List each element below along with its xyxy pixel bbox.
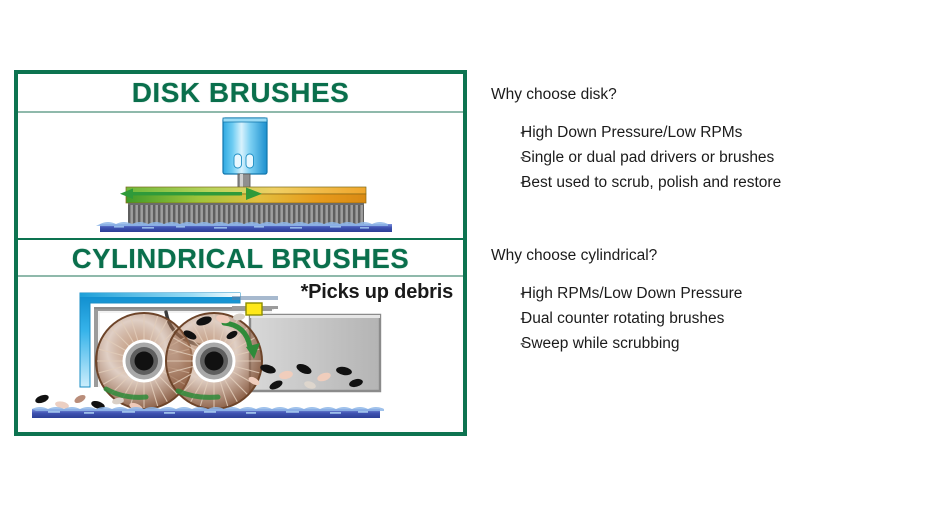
list-item-label: Sweep while scrubbing (521, 331, 921, 356)
list-item: - High RPMs/Low Down Pressure (491, 281, 921, 306)
disk-section-heading: Why choose disk? (491, 84, 921, 106)
disk-brushes-title: DISK BRUSHES (132, 77, 350, 108)
dash-marker: - (491, 145, 521, 170)
disk-brush-diagram (18, 113, 463, 238)
counter-rotating-brush-right (166, 313, 262, 409)
yellow-latch (246, 303, 262, 315)
list-item-label: High Down Pressure/Low RPMs (521, 120, 921, 145)
dash-marker: - (491, 331, 521, 356)
cylindrical-brushes-title-band: CYLINDRICAL BRUSHES (18, 238, 463, 277)
list-item: - Best used to scrub, polish and restore (491, 170, 921, 195)
list-item-label: High RPMs/Low Down Pressure (521, 281, 921, 306)
list-item: - High Down Pressure/Low RPMs (491, 120, 921, 145)
dash-marker: - (491, 281, 521, 306)
list-item-label: Dual counter rotating brushes (521, 306, 921, 331)
dash-marker: - (491, 170, 521, 195)
cylindrical-section-heading: Why choose cylindrical? (491, 245, 921, 267)
cylindrical-benefits-list: - High RPMs/Low Down Pressure - Dual cou… (491, 281, 921, 356)
list-item: - Dual counter rotating brushes (491, 306, 921, 331)
disk-brushes-title-band: DISK BRUSHES (18, 74, 463, 113)
blue-cylindrical-motor (223, 118, 267, 188)
brush-comparison-infographic: DISK BRUSHES (14, 70, 467, 436)
dash-marker: - (491, 306, 521, 331)
cylindrical-brush-diagram: *Picks up debris (18, 277, 463, 432)
disk-benefits-section: Why choose disk? - High Down Pressure/Lo… (491, 84, 921, 195)
dash-marker: - (491, 120, 521, 145)
list-item-label: Single or dual pad drivers or brushes (521, 145, 921, 170)
list-item: - Single or dual pad drivers or brushes (491, 145, 921, 170)
benefits-text-column: Why choose disk? - High Down Pressure/Lo… (491, 84, 921, 356)
disk-benefits-list: - High Down Pressure/Low RPMs - Single o… (491, 120, 921, 195)
cylindrical-benefits-section: Why choose cylindrical? - High RPMs/Low … (491, 245, 921, 356)
grey-vertical-bristles (128, 203, 364, 224)
list-item-label: Best used to scrub, polish and restore (521, 170, 921, 195)
cylindrical-brushes-title: CYLINDRICAL BRUSHES (72, 243, 410, 274)
picks-up-debris-note: *Picks up debris (301, 281, 453, 304)
list-item: - Sweep while scrubbing (491, 331, 921, 356)
